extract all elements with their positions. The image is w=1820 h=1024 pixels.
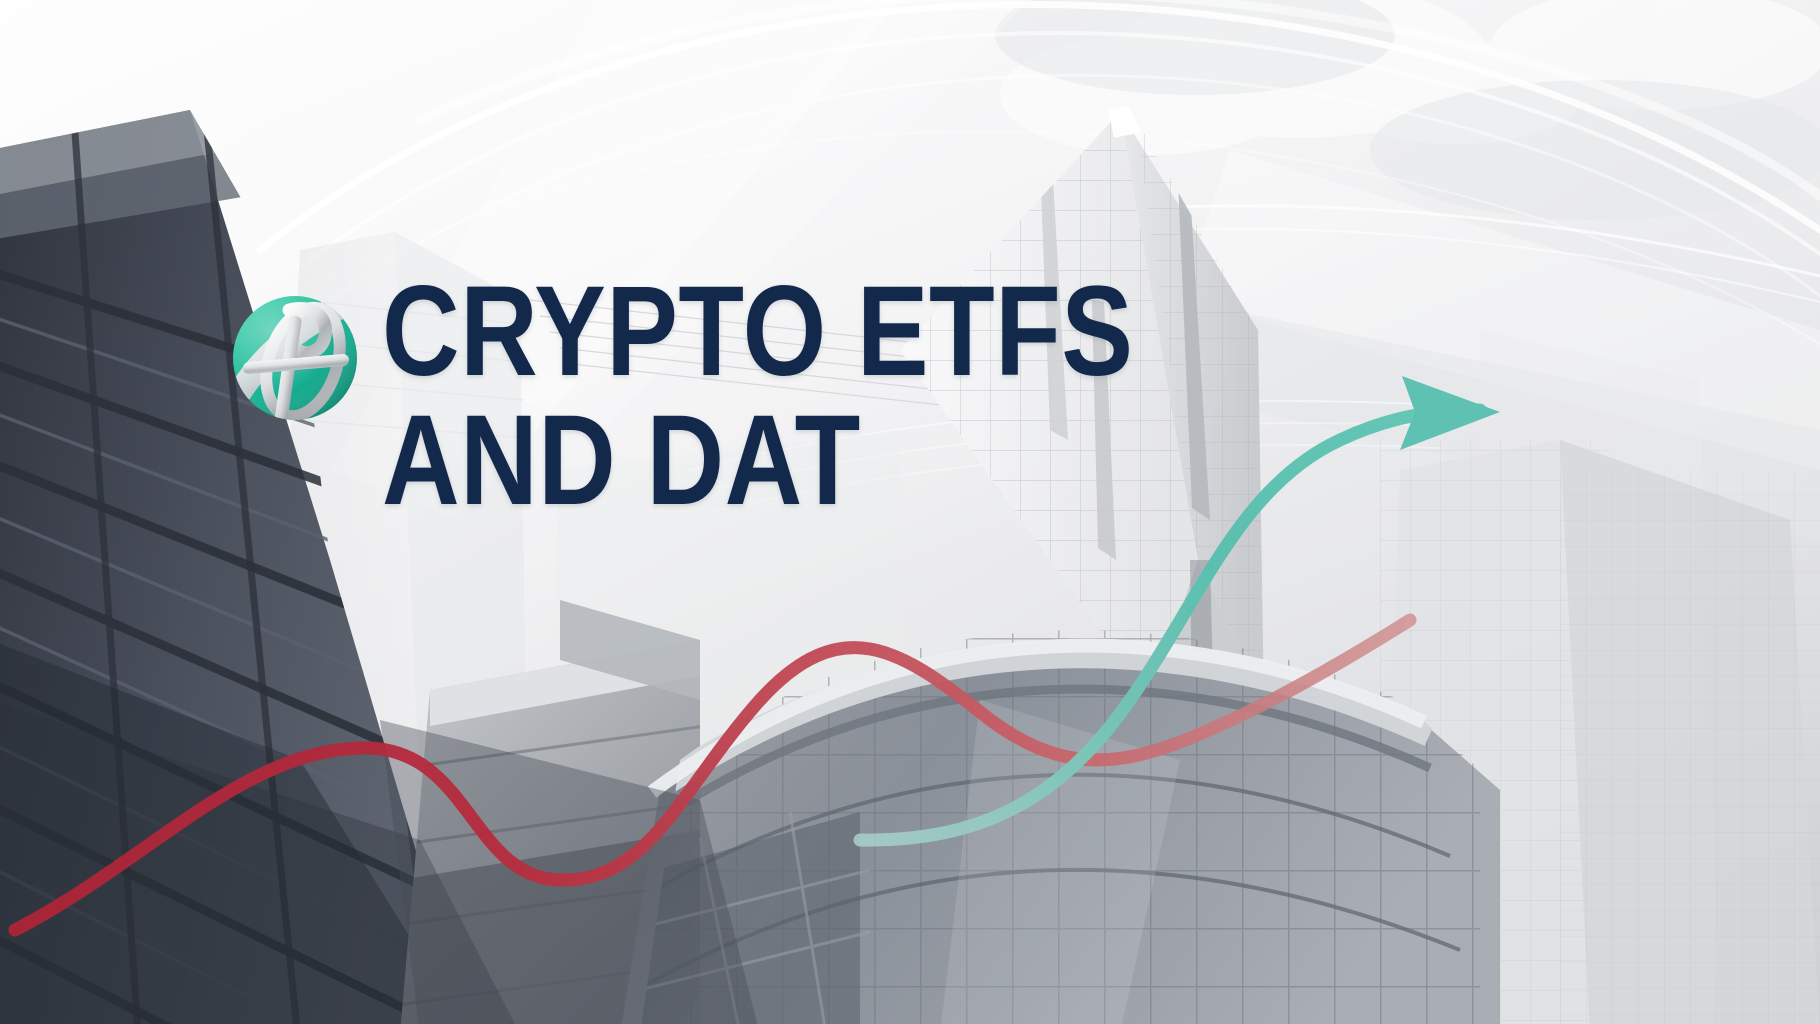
crypto-globe-logo [225, 288, 365, 428]
trendline-arrow-head [1400, 376, 1500, 450]
bullish-trendline [860, 410, 1480, 840]
bearish-trendline [15, 620, 1410, 930]
banner-canvas: CRYPTO ETFS AND DAT [0, 0, 1820, 1024]
trendlines-layer [0, 0, 1820, 1024]
